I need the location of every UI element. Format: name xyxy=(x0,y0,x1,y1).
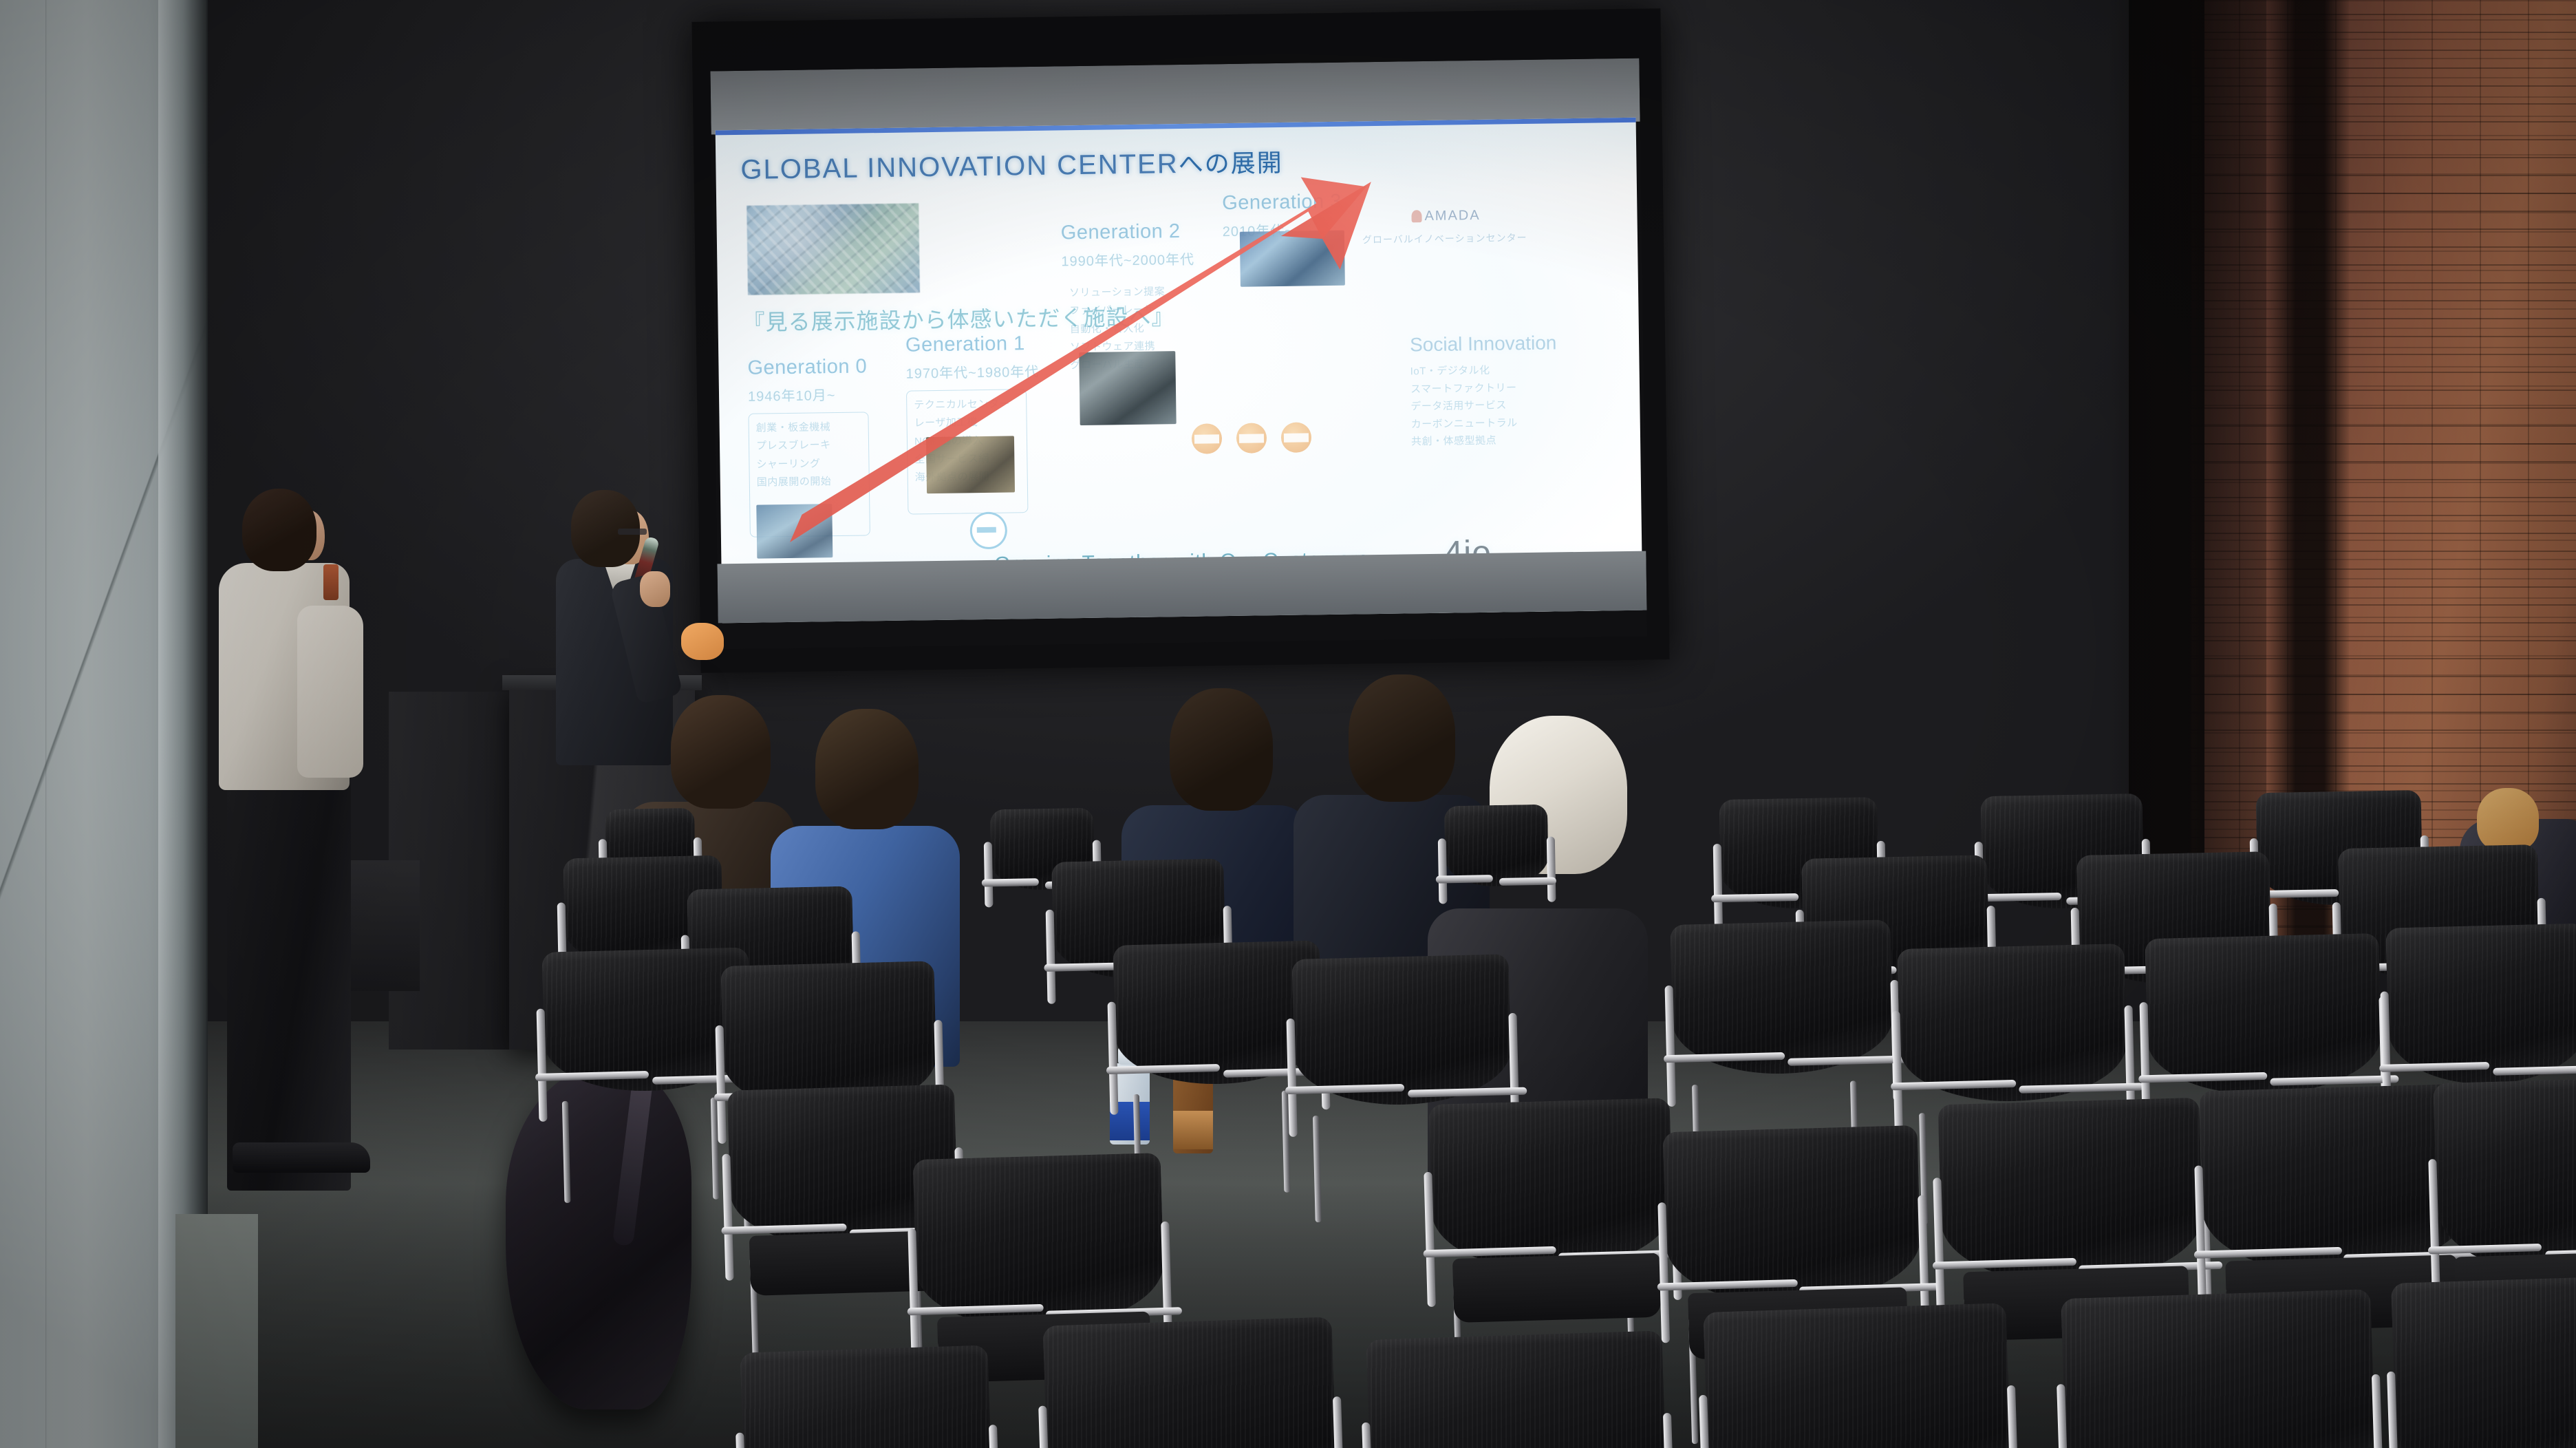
standing-attendee-tie xyxy=(323,564,339,600)
amada-right-text: AMADA xyxy=(1424,208,1480,224)
slide-amada-right-logo: AMADA xyxy=(1411,208,1480,224)
audience-member-3-head xyxy=(1170,688,1273,811)
generation-0-line-2: シャーリング xyxy=(756,454,861,473)
chair-frame-left xyxy=(1438,838,1448,904)
amada-mark-icon-right xyxy=(1411,210,1421,222)
chair[interactable] xyxy=(1663,1125,1922,1308)
timeline-photo-2 xyxy=(1079,351,1176,425)
generation-3-name: Generation 3 xyxy=(1222,191,1342,215)
slide-title: GLOBAL INNOVATION CENTERへの展開 xyxy=(740,143,1283,187)
generation-1-line-0: テクニカルセンター xyxy=(914,395,1019,414)
timeline-photo-3 xyxy=(1240,231,1345,287)
standing-attendee-arm xyxy=(297,606,363,778)
chair[interactable] xyxy=(740,1345,994,1448)
slide-gic-subtitle: グローバルイノベーションセンター xyxy=(1362,231,1527,246)
chair[interactable] xyxy=(1897,944,2127,1104)
chair[interactable] xyxy=(1444,805,1549,888)
chair-backrest xyxy=(2391,1277,2576,1448)
presenter-other-hand xyxy=(681,623,724,660)
projection-screen: GLOBAL INNOVATION CENTERへの展開 『見る展示施設から体感… xyxy=(691,8,1669,673)
generation-2-date: 1990年代~2000年代 xyxy=(1061,248,1194,270)
chair-frame-left xyxy=(984,842,994,907)
generation-2-line-1: ファイバーレーザ xyxy=(1069,301,1174,320)
chair-armrest xyxy=(1499,877,1556,886)
screen-surface: GLOBAL INNOVATION CENTERへの展開 『見る展示施設から体感… xyxy=(710,58,1647,650)
chair-backrest xyxy=(2433,1078,2576,1273)
chair-backrest xyxy=(1444,805,1549,888)
chair[interactable] xyxy=(2385,923,2576,1086)
generation-2-line-0: ソリューション提案 xyxy=(1069,283,1174,302)
chair-backrest xyxy=(1043,1317,1338,1448)
audience-member-6-head xyxy=(2477,788,2539,851)
left-floor-strip xyxy=(175,1214,258,1448)
blue-ring-icon xyxy=(969,512,1007,550)
badge-icon-1 xyxy=(1192,423,1223,454)
generation-2-name: Generation 2 xyxy=(1061,220,1194,245)
chair-frame-left xyxy=(1713,844,1723,932)
slide-title-en: GLOBAL INNOVATION CENTER xyxy=(740,149,1179,185)
glasses-icon xyxy=(618,529,647,535)
chair-backrest xyxy=(2061,1289,2377,1448)
slide-social-innovation-label: Social Innovation xyxy=(1410,332,1557,356)
tea-bottle-label xyxy=(1173,1111,1213,1149)
badge-icon-2 xyxy=(1236,423,1267,454)
chair[interactable] xyxy=(2433,1078,2576,1273)
chair-armrest xyxy=(1711,893,1799,902)
chair[interactable] xyxy=(913,1153,1166,1332)
chair[interactable] xyxy=(1938,1098,2204,1288)
brick-wall-shadow-wide xyxy=(2129,0,2266,963)
screen-grey-band-bottom xyxy=(717,551,1646,624)
chair[interactable] xyxy=(1703,1303,2012,1448)
standing-attendee-legs xyxy=(227,778,351,1191)
presentation-slide: GLOBAL INNOVATION CENTERへの展開 『見る展示施設から体感… xyxy=(716,118,1643,624)
slide-title-jp: への展開 xyxy=(1178,149,1283,178)
generation-0-line-0: 創業・板金機械 xyxy=(756,418,861,437)
chair[interactable] xyxy=(2061,1289,2377,1448)
chair-backrest xyxy=(1366,1330,1668,1448)
badge-icon-3 xyxy=(1281,422,1312,453)
backpack xyxy=(506,1065,691,1409)
chair-backrest xyxy=(1703,1303,2012,1448)
generation-0-line-1: プレスブレーキ xyxy=(756,436,861,456)
audience-member-2-head xyxy=(815,709,919,829)
badge-icon-row xyxy=(1192,422,1312,454)
audience-member-1-head xyxy=(671,695,771,809)
generation-2-line-2: 自動化・省人化 xyxy=(1070,319,1175,339)
standing-attendee-hair xyxy=(242,489,316,571)
audience-member-4-head xyxy=(1349,674,1455,802)
chair-seat xyxy=(1452,1253,1661,1323)
generation-1-name: Generation 1 xyxy=(905,332,1039,357)
chair[interactable] xyxy=(1291,954,1512,1107)
chair[interactable] xyxy=(1366,1330,1668,1448)
generation-1-line-1: レーザ加工機 xyxy=(914,414,1019,433)
generation-1-date: 1970年代~1980年代 xyxy=(905,361,1039,383)
timeline-photo-0 xyxy=(756,504,833,559)
chair-armrest xyxy=(1436,875,1493,884)
presenter-hand-holding-mic xyxy=(640,571,670,607)
generation-3-lines: IoT・デジタル化 スマートファクトリー データ活用サービス カーボンニュートラ… xyxy=(1410,360,1618,451)
chair[interactable] xyxy=(1670,919,1893,1076)
timeline-photo-1 xyxy=(926,436,1015,493)
generation-3-line-4: 共創・体感型拠点 xyxy=(1411,430,1618,451)
chair-frame-right xyxy=(1547,837,1556,902)
generation-0-date: 1946年10月~ xyxy=(748,383,868,405)
generation-0-name: Generation 0 xyxy=(747,355,868,379)
standing-attendee-shoes xyxy=(233,1142,370,1173)
chair[interactable] xyxy=(1043,1317,1338,1448)
chair-armrest xyxy=(982,879,1039,887)
chair[interactable] xyxy=(1429,1098,1675,1273)
aerial-campus-photo xyxy=(747,203,920,295)
seminar-room-scene: GLOBAL INNOVATION CENTERへの展開 『見る展示施設から体感… xyxy=(0,0,2576,1448)
generation-0-line-3: 国内展開の開始 xyxy=(757,472,862,491)
chair[interactable] xyxy=(2391,1277,2576,1448)
chair[interactable] xyxy=(2145,933,2383,1097)
chair-backrest xyxy=(740,1345,994,1448)
